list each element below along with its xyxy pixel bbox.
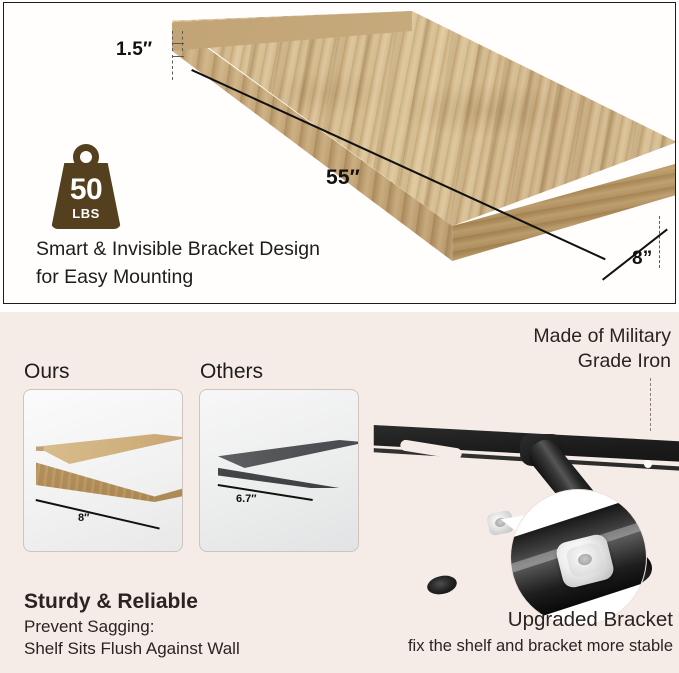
sturdy-title: Sturdy & Reliable xyxy=(24,590,198,614)
thickness-bar-bottom xyxy=(172,56,184,57)
bracket-block: Made of Military Grade Iron Upgraded Bra… xyxy=(372,312,679,673)
sturdy-subline-1: Prevent Sagging: xyxy=(24,617,154,637)
others-depth-label: 6.7″ xyxy=(236,493,257,505)
weight-unit: LBS xyxy=(72,207,100,220)
ours-depth-label: 8″ xyxy=(78,512,89,524)
upgraded-bracket-subtitle: fix the shelf and bracket more stable xyxy=(408,637,673,656)
ours-depth-arrow xyxy=(36,499,160,529)
length-label: 55″ xyxy=(326,166,360,190)
top-caption-line1: Smart & Invisible Bracket Design xyxy=(36,235,320,263)
bracket-rod-tip xyxy=(425,573,458,597)
depth-label: 8” xyxy=(632,248,652,270)
thickness-extension-tick xyxy=(172,55,173,80)
others-shelf-top xyxy=(218,440,359,468)
comparison-block: Ours Others 8″ 6.7″ Sturdy & Reliable Pr… xyxy=(0,312,372,572)
thickness-label: 1.5″ xyxy=(116,39,152,61)
ours-photo: 8″ xyxy=(23,389,183,552)
bracket-screw-hole xyxy=(644,460,652,468)
weight-number: 50 xyxy=(70,175,102,205)
magnified-screw-callout xyxy=(510,489,647,626)
military-line2: Grade Iron xyxy=(533,349,671,374)
thickness-tick-left xyxy=(172,31,173,51)
top-caption: Smart & Invisible Bracket Design for Eas… xyxy=(36,235,320,292)
sturdy-subline-2: Shelf Sits Flush Against Wall xyxy=(24,639,240,659)
military-line1: Made of Military xyxy=(533,324,671,349)
others-photo: 6.7″ xyxy=(199,389,359,552)
ours-shelf-top xyxy=(36,434,183,464)
top-caption-line2: for Easy Mounting xyxy=(36,263,320,291)
military-grade-title: Made of Military Grade Iron xyxy=(533,324,671,375)
upgraded-bracket-title: Upgraded Bracket xyxy=(508,608,673,632)
weight-body: 50 LBS xyxy=(51,163,121,229)
ours-header: Ours xyxy=(24,360,70,384)
depth-extension-tick xyxy=(659,216,660,268)
weight-capacity-icon: 50 LBS xyxy=(51,144,121,229)
thickness-tick-right xyxy=(182,31,183,51)
shelf-dimensions-panel: 1.5″ 55″ 8” 50 LBS Smart & Invisible Bra… xyxy=(3,2,676,304)
material-callout-line xyxy=(650,378,651,431)
others-header: Others xyxy=(200,360,263,384)
thickness-bar-top xyxy=(172,43,184,44)
features-section: Ours Others 8″ 6.7″ Sturdy & Reliable Pr… xyxy=(0,312,679,673)
others-depth-arrow xyxy=(218,484,313,501)
